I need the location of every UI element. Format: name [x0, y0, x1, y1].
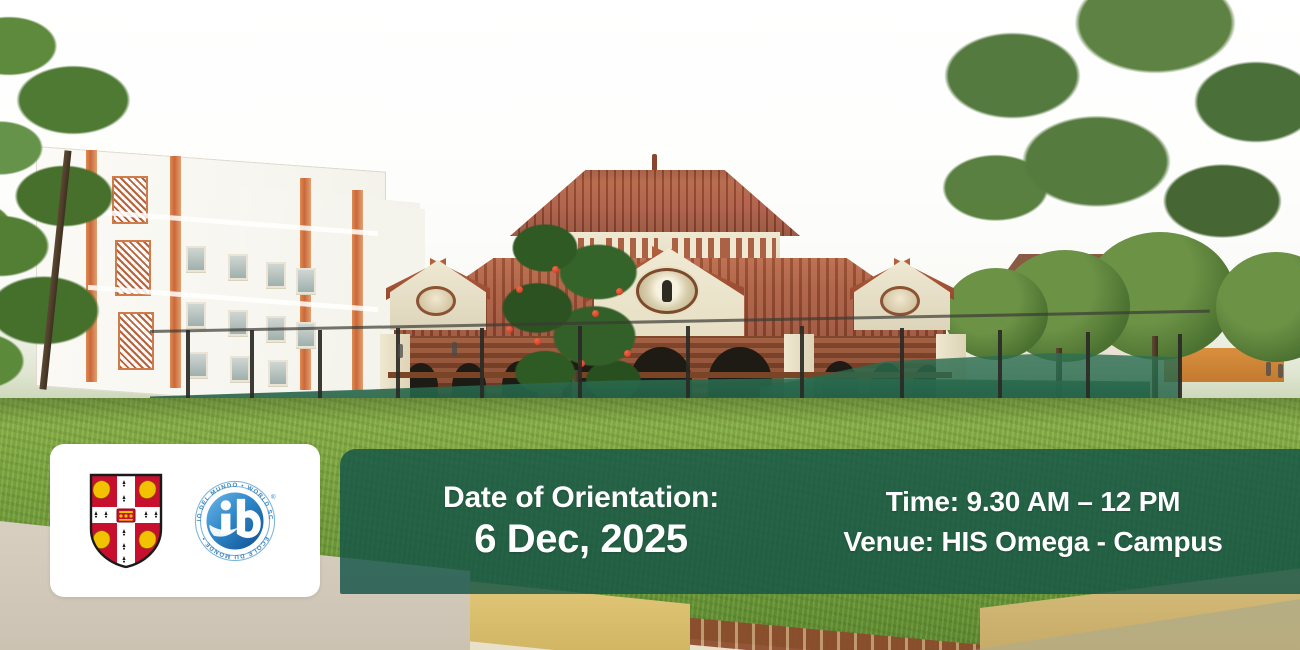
- window-r3c1: [188, 352, 208, 378]
- accreditation-logo-card: COLEGIO DEL MUNDO • WORLD SCHOOL • ÉCOLE…: [50, 444, 320, 597]
- brick-vent-4: [724, 238, 776, 258]
- person-1: [398, 344, 403, 358]
- date-value: 6 Dec, 2025: [366, 516, 796, 563]
- blossom-4: [534, 338, 541, 345]
- ib-world-school-icon: COLEGIO DEL MUNDO • WORLD SCHOOL • ÉCOLE…: [189, 475, 281, 567]
- person-3: [1266, 362, 1271, 376]
- event-info-panel: Date of Orientation: 6 Dec, 2025 Time: 9…: [340, 449, 1300, 594]
- date-label: Date of Orientation:: [366, 480, 796, 517]
- window-r1c4: [296, 268, 316, 294]
- window-r2c1: [186, 302, 206, 328]
- blossom-2: [552, 266, 559, 273]
- orientation-banner: Date of Orientation: 6 Dec, 2025 Time: 9…: [0, 0, 1300, 650]
- blossom-1: [516, 286, 523, 293]
- pilaster-4: [352, 190, 363, 390]
- time-venue-column: Time: 9.30 AM – 12 PM Venue: HIS Omega -…: [796, 482, 1270, 562]
- lattice-screen-3: [118, 312, 154, 370]
- window-r2c2: [228, 310, 248, 336]
- window-r3c3: [268, 360, 288, 386]
- person-4: [1278, 364, 1283, 378]
- time-line: Time: 9.30 AM – 12 PM: [796, 482, 1270, 522]
- lawn-shadow: [0, 398, 1300, 424]
- window-r1c3: [266, 262, 286, 288]
- blossom-5: [616, 288, 623, 295]
- window-r1c1: [186, 246, 206, 272]
- ib-registered-mark: ®: [271, 492, 276, 500]
- cambridge-crest-icon: [89, 473, 163, 569]
- venue-line: Venue: HIS Omega - Campus: [796, 522, 1270, 562]
- window-r1c2: [228, 254, 248, 280]
- medallion-right: [880, 286, 920, 316]
- person-2: [452, 342, 457, 356]
- medallion-left: [416, 286, 456, 316]
- window-r3c2: [230, 356, 250, 382]
- blossom-6: [624, 350, 631, 357]
- blossom-7: [506, 326, 513, 333]
- event-info-inner: Date of Orientation: 6 Dec, 2025 Time: 9…: [340, 480, 1300, 564]
- blossom-3: [592, 310, 599, 317]
- pilaster-2: [170, 156, 181, 388]
- date-column: Date of Orientation: 6 Dec, 2025: [366, 480, 796, 564]
- roof-finial: [652, 154, 657, 172]
